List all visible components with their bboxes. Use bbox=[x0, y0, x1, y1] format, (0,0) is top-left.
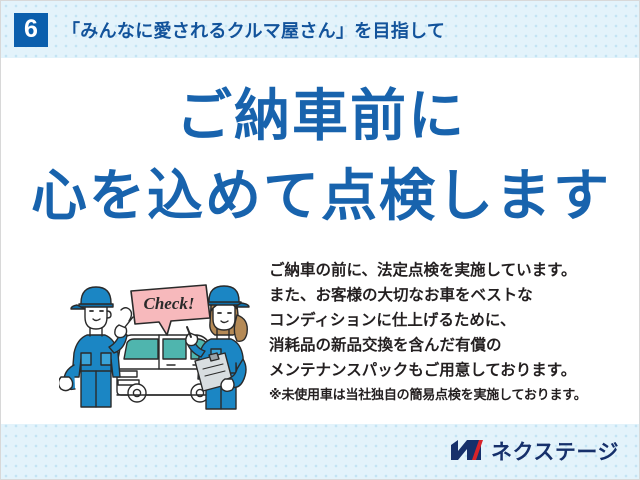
copy-line: コンディションに仕上げるために、 bbox=[269, 308, 619, 333]
speech-bubble-label: Check! bbox=[144, 294, 195, 313]
mechanics-illustration: Check! bbox=[59, 273, 264, 413]
content-card: ご納車前に 心を込めて点検します bbox=[1, 58, 640, 424]
headline-line-2: 心を込めて点検します bbox=[1, 168, 640, 224]
body-copy: ご納車の前に、法定点検を実施しています。 また、お客様の大切なお車をベストな コ… bbox=[269, 258, 619, 407]
copy-line: ご納車の前に、法定点検を実施しています。 bbox=[269, 258, 619, 283]
promo-banner: 6 「みんなに愛されるクルマ屋さん」を目指して ご納車前に 心を込めて点検します bbox=[0, 0, 640, 480]
nextage-n-icon bbox=[450, 438, 484, 467]
banner-header: 6 「みんなに愛されるクルマ屋さん」を目指して bbox=[1, 1, 640, 58]
headline-line-1: ご納車前に bbox=[1, 88, 640, 144]
copy-line: 消耗品の新品交換を含んだ有償の bbox=[269, 333, 619, 358]
brand-name: ネクステージ bbox=[491, 442, 619, 463]
copy-line: メンテナンスパックもご用意しております。 bbox=[269, 358, 619, 383]
copy-line: また、お客様の大切なお車をベストな bbox=[269, 283, 619, 308]
copy-note: ※未使用車は当社独自の簡易点検を実施しております。 bbox=[269, 383, 619, 407]
banner-footer: ネクステージ bbox=[1, 424, 640, 480]
brand-logo: ネクステージ bbox=[450, 438, 619, 467]
section-number-badge: 6 bbox=[14, 13, 48, 47]
header-title: 「みんなに愛されるクルマ屋さん」を目指して bbox=[62, 17, 445, 43]
